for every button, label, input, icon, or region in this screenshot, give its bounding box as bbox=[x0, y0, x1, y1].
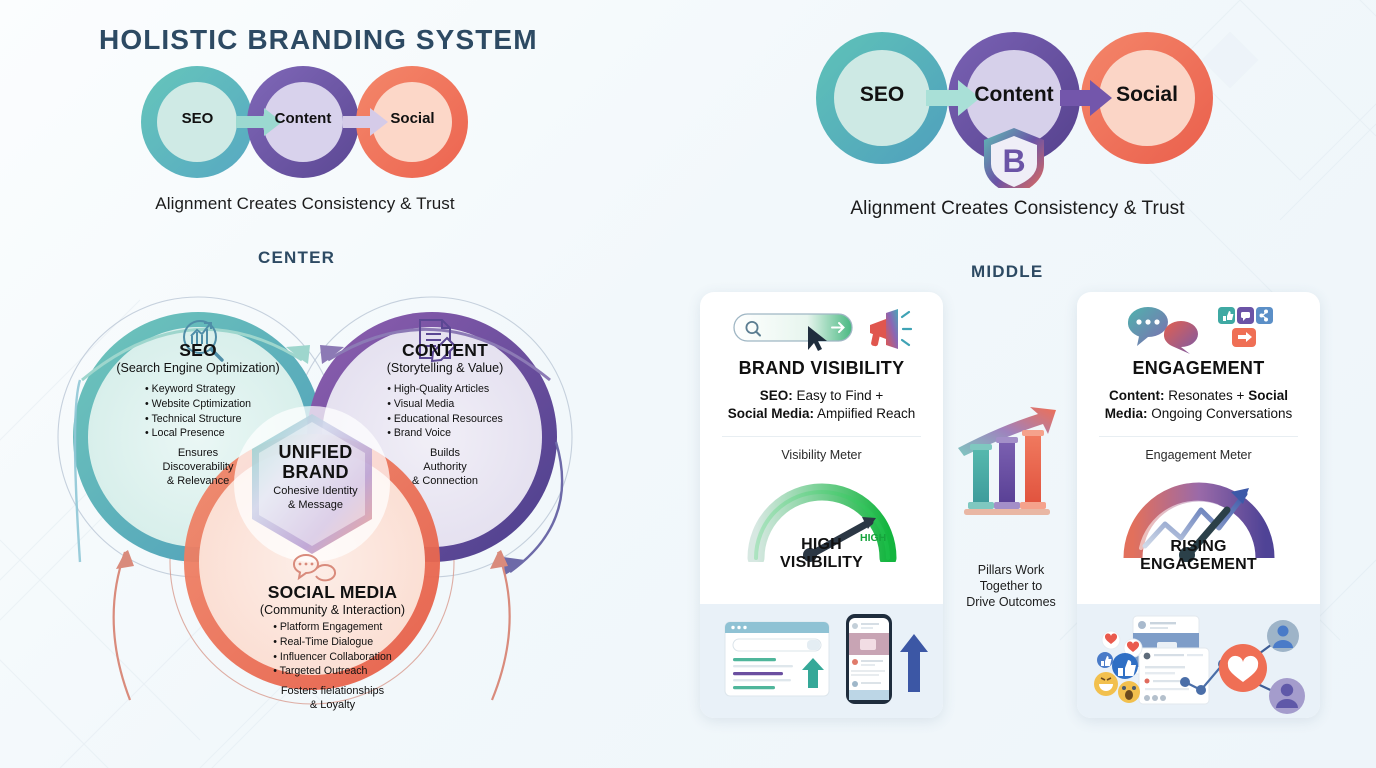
venn-title-content: CONTENT bbox=[330, 340, 560, 361]
flow2-label-social: Social bbox=[1104, 83, 1190, 107]
list-item: • Keyword Strategy bbox=[145, 382, 251, 397]
list-item: • Educational Resources bbox=[387, 412, 503, 427]
venn-text-core: UNIFIED BRAND Cohesive Identity& Message bbox=[238, 442, 393, 512]
core-title-line1: UNIFIED bbox=[238, 442, 393, 462]
card-desc-visibility: SEO: Easy to Find + Social Media: Ampiif… bbox=[700, 387, 943, 423]
up-arrow-icon bbox=[900, 634, 928, 692]
engagement-meter-label: Engagement Meter bbox=[1077, 448, 1320, 462]
card-divider bbox=[722, 436, 921, 437]
card-title-engagement: ENGAGEMENT bbox=[1077, 358, 1320, 379]
card-divider bbox=[1099, 436, 1298, 437]
gauge-text-line1: HIGH bbox=[700, 536, 943, 554]
gauge-tick-high: HIGH bbox=[860, 532, 886, 544]
phone-feed-mockup bbox=[846, 614, 892, 704]
three-pillars-rising-arrow-icon bbox=[952, 404, 1070, 554]
gauge-text-line1: RISING bbox=[1077, 538, 1320, 556]
page-title: HOLISTIC BRANDING SYSTEM bbox=[99, 24, 538, 56]
reaction-badges-icon bbox=[1218, 305, 1274, 353]
flow-label-seo: SEO bbox=[170, 110, 225, 127]
label-center: CENTER bbox=[258, 248, 335, 268]
browser-window-mockup bbox=[725, 622, 829, 696]
list-item: • High-Quality Articles bbox=[387, 382, 503, 397]
desc-bold-seo: SEO: bbox=[760, 388, 793, 403]
flow-diagram-large: B SEO Content Social bbox=[812, 28, 1222, 193]
venn-arrow-social-left bbox=[114, 552, 130, 700]
card-engagement-footer bbox=[1077, 604, 1320, 718]
flow-label-social: Social bbox=[380, 110, 445, 127]
chat-bubbles-icon bbox=[1124, 304, 1208, 354]
venn-footer-social: Fosters fielationships& Loyalty bbox=[200, 685, 465, 713]
flow-label-content: Content bbox=[263, 110, 343, 127]
desc-bold-social: Social Media: bbox=[728, 406, 814, 421]
core-subtitle: Cohesive Identity& Message bbox=[238, 485, 393, 511]
card-visibility-icons bbox=[700, 292, 943, 354]
card-engagement[interactable]: ENGAGEMENT Content: Resonates + Social M… bbox=[1077, 292, 1320, 718]
core-title-line2: BRAND bbox=[238, 462, 393, 482]
list-item: • Local Presence bbox=[145, 426, 251, 441]
desc-bold-content: Content: bbox=[1109, 388, 1164, 403]
flow2-label-seo: SEO bbox=[847, 83, 917, 107]
desc-bold-social2: Social bbox=[1248, 388, 1288, 403]
pillars-caption: Pillars WorkTogether toDrive Outcomes bbox=[952, 563, 1070, 610]
reaction-emojis bbox=[1094, 631, 1142, 703]
desc-rest-media: Ongoing Conversations bbox=[1147, 406, 1292, 421]
card-desc-engagement: Content: Resonates + Social Media: Ongoi… bbox=[1077, 387, 1320, 423]
list-item: • Real-Time Dialogue bbox=[273, 635, 392, 650]
card-visibility-footer bbox=[700, 604, 943, 718]
desc-bold-media: Media: bbox=[1105, 406, 1148, 421]
list-item: • Visual Media bbox=[387, 397, 503, 412]
engagement-gauge: RISING ENGAGEMENT bbox=[1077, 466, 1320, 582]
flow-diagram-small: SEO Content Social bbox=[140, 62, 480, 187]
pillars-graphic: Pillars WorkTogether toDrive Outcomes bbox=[952, 404, 1070, 610]
visibility-meter-label: Visibility Meter bbox=[700, 448, 943, 462]
list-item: • Targeted Outreach bbox=[273, 664, 392, 679]
list-item: • Technical Structure bbox=[145, 412, 251, 427]
card-title-visibility: BRAND VISIBILITY bbox=[700, 358, 943, 379]
venn-subtitle-social: (Community & Interaction) bbox=[200, 603, 465, 618]
card-engagement-icons bbox=[1077, 292, 1320, 354]
search-bar-cursor-icon bbox=[732, 306, 856, 352]
list-item: • Influencer Collaboration bbox=[273, 650, 392, 665]
venn-title-social: SOCIAL MEDIA bbox=[200, 582, 465, 603]
venn-subtitle-seo: (Search Engine Optimization) bbox=[88, 361, 308, 376]
list-item: • Website Cptimization bbox=[145, 397, 251, 412]
venn-text-social: SOCIAL MEDIA (Community & Interaction) •… bbox=[200, 582, 465, 713]
venn-subtitle-content: (Storytelling & Value) bbox=[330, 361, 560, 376]
venn-arrow-social-right bbox=[492, 552, 510, 700]
card-brand-visibility[interactable]: BRAND VISIBILITY SEO: Easy to Find + Soc… bbox=[700, 292, 943, 718]
venn-list-content: • High-Quality Articles• Visual Media• E… bbox=[387, 382, 503, 440]
venn-diagram: SEO (Search Engine Optimization) • Keywo… bbox=[40, 262, 600, 722]
visibility-gauge: HIGH HIGH VISIBILITY bbox=[700, 466, 943, 582]
megaphone-icon bbox=[866, 307, 912, 351]
desc-rest-content: Resonates + bbox=[1165, 388, 1249, 403]
gauge-text-line2: VISIBILITY bbox=[700, 554, 943, 572]
label-middle: MIDDLE bbox=[971, 262, 1043, 282]
desc-rest-seo: Easy to Find + bbox=[793, 388, 883, 403]
gauge-text-line2: ENGAGEMENT bbox=[1077, 556, 1320, 574]
desc-rest-social: Ampiified Reach bbox=[814, 406, 915, 421]
flow-caption-small: Alignment Creates Consistency & Trust bbox=[80, 194, 530, 214]
list-item: • Platform Engagement bbox=[273, 620, 392, 635]
venn-list-seo: • Keyword Strategy• Website Cptimization… bbox=[145, 382, 251, 440]
list-item: • Brand Voice bbox=[387, 426, 503, 441]
flow-caption-large: Alignment Creates Consistency & Trust bbox=[790, 198, 1245, 220]
venn-title-seo: SEO bbox=[88, 340, 308, 361]
venn-list-social: • Platform Engagement• Real-Time Dialogu… bbox=[273, 620, 392, 678]
flow2-label-content: Content bbox=[964, 83, 1064, 107]
